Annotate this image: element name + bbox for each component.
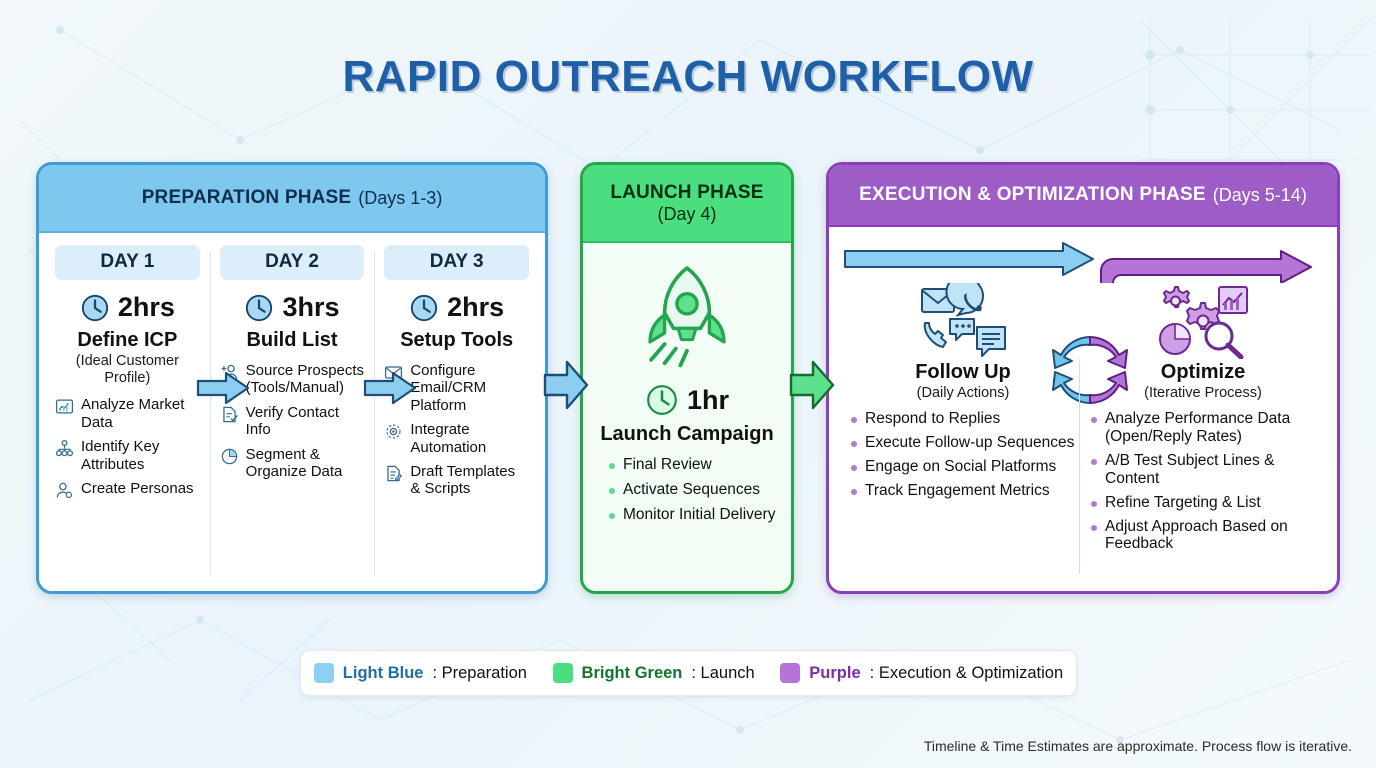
list-item-text: Activate Sequences xyxy=(623,481,760,499)
launch-task-list: Final Review Activate Sequences Monitor … xyxy=(595,456,779,531)
list-item: Analyze Market Data xyxy=(55,396,200,431)
preparation-phase-header: PREPARATION PHASE (Days 1-3) xyxy=(39,165,545,233)
follow-up-task-list: Respond to Replies Execute Follow-up Seq… xyxy=(851,410,1075,500)
list-item: Engage on Social Platforms xyxy=(851,458,1075,476)
optimize-task-list: Analyze Performance Data (Open/Reply Rat… xyxy=(1091,410,1315,554)
day-2-duration-row: 3hrs xyxy=(220,292,365,323)
arrow-preparation-to-launch xyxy=(543,357,589,413)
legend-value: : Execution & Optimization xyxy=(870,664,1064,683)
list-item-text: Verify Contact Info xyxy=(246,404,365,439)
day-3-step-title: Setup Tools xyxy=(384,329,529,352)
day-column-1: DAY 1 2hrs Define ICP (Ideal Customer Pr… xyxy=(45,245,210,583)
follow-up-title: Follow Up xyxy=(851,361,1075,384)
launch-step-title: Launch Campaign xyxy=(600,423,773,446)
clock-icon xyxy=(409,293,439,323)
gear-network-icon xyxy=(384,422,403,441)
list-item-text: Adjust Approach Based on Feedback xyxy=(1105,518,1315,554)
phone-icon xyxy=(925,323,946,347)
list-item-text: Configure Email/CRM Platform xyxy=(410,362,529,414)
list-item: Respond to Replies xyxy=(851,410,1075,428)
day-1-duration: 2hrs xyxy=(118,292,175,323)
day-3-duration: 2hrs xyxy=(447,292,504,323)
list-item: Adjust Approach Based on Feedback xyxy=(1091,518,1315,554)
document-edit-icon xyxy=(384,464,403,483)
day-column-3: DAY 3 2hrs Setup Tools Confi xyxy=(374,245,539,583)
list-item-text: Final Review xyxy=(623,456,712,474)
list-item-text: Analyze Performance Data (Open/Reply Rat… xyxy=(1105,410,1315,446)
day-1-step-sub: (Ideal Customer Profile) xyxy=(55,353,200,386)
execution-flow-arrows xyxy=(843,239,1327,283)
launch-duration: 1hr xyxy=(687,385,729,416)
list-item-text: Refine Targeting & List xyxy=(1105,494,1261,512)
list-item: Execute Follow-up Sequences xyxy=(851,434,1075,452)
launch-header-sub: (Day 4) xyxy=(657,204,716,224)
legend-item-preparation: Light Blue : Preparation xyxy=(314,663,527,683)
list-item-text: Identify Key Attributes xyxy=(81,438,200,473)
legend-value: : Preparation xyxy=(432,664,526,683)
day-3-duration-row: 2hrs xyxy=(384,292,529,323)
launch-duration-row: 1hr xyxy=(645,383,729,417)
arrow-day1-to-day2 xyxy=(196,370,252,406)
execution-phase-header: EXECUTION & OPTIMIZATION PHASE (Days 5-1… xyxy=(829,165,1337,227)
follow-up-icon-cluster xyxy=(917,283,1009,359)
execution-column-optimize: Optimize (Iterative Process) Analyze Per… xyxy=(1083,287,1323,583)
list-item: Verify Contact Info xyxy=(220,404,365,439)
follow-up-sub: (Daily Actions) xyxy=(851,385,1075,402)
list-item: Refine Targeting & List xyxy=(1091,494,1315,512)
day-column-2: DAY 2 3hrs Build List xyxy=(210,245,375,583)
list-item-text: Analyze Market Data xyxy=(81,396,200,431)
legend-key: Light Blue xyxy=(343,664,424,683)
footer-note: Timeline & Time Estimates are approximat… xyxy=(924,738,1352,754)
legend-swatch-green xyxy=(553,663,573,683)
clock-icon xyxy=(80,293,110,323)
launch-phase-header: LAUNCH PHASE (Day 4) xyxy=(583,165,791,243)
list-item: Track Engagement Metrics xyxy=(851,482,1075,500)
list-item: Draft Templates & Scripts xyxy=(384,463,529,498)
legend-swatch-blue xyxy=(314,663,334,683)
org-network-icon xyxy=(55,439,74,458)
clock-icon xyxy=(244,293,274,323)
legend-item-launch: Bright Green : Launch xyxy=(553,663,755,683)
list-item-text: Source Prospects (Tools/Manual) xyxy=(246,362,365,397)
list-item-text: Draft Templates & Scripts xyxy=(410,463,529,498)
execution-header-main: EXECUTION & OPTIMIZATION PHASE xyxy=(859,184,1206,206)
legend-key: Bright Green xyxy=(582,664,683,683)
list-item-text: Monitor Initial Delivery xyxy=(623,506,775,524)
chart-growth-icon xyxy=(55,397,74,416)
preparation-header-main: PREPARATION PHASE xyxy=(142,187,352,209)
day-2-duration: 3hrs xyxy=(282,292,339,323)
list-item-text: A/B Test Subject Lines & Content xyxy=(1105,452,1315,488)
day-2-label: DAY 2 xyxy=(220,245,365,280)
dots-bubble-icon xyxy=(950,319,974,340)
list-item: A/B Test Subject Lines & Content xyxy=(1091,452,1315,488)
list-item: Monitor Initial Delivery xyxy=(609,506,779,524)
list-item: Activate Sequences xyxy=(609,481,779,499)
list-item-text: Execute Follow-up Sequences xyxy=(865,434,1074,452)
legend-key: Purple xyxy=(809,664,860,683)
optimize-sub: (Iterative Process) xyxy=(1091,385,1315,402)
list-item: Segment & Organize Data xyxy=(220,446,365,481)
day-1-step-title: Define ICP xyxy=(55,329,200,352)
execution-header-sub: (Days 5-14) xyxy=(1213,185,1307,206)
execution-phase-panel: EXECUTION & OPTIMIZATION PHASE (Days 5-1… xyxy=(826,162,1340,594)
legend-value: : Launch xyxy=(691,664,754,683)
blue-flow-arrow xyxy=(845,243,1093,275)
list-item: Final Review xyxy=(609,456,779,474)
list-item-text: Integrate Automation xyxy=(410,421,529,456)
document-check-icon xyxy=(220,405,239,424)
execution-column-follow-up: Follow Up (Daily Actions) Respond to Rep… xyxy=(843,287,1083,583)
list-item-text: Segment & Organize Data xyxy=(246,446,365,481)
legend: Light Blue : Preparation Bright Green : … xyxy=(300,650,1077,696)
list-item: Create Personas xyxy=(55,480,200,500)
day-1-task-list: Analyze Market Data Identify Key Attribu… xyxy=(55,396,200,500)
page-title: RAPID OUTREACH WORKFLOW xyxy=(0,52,1376,102)
optimize-title: Optimize xyxy=(1091,361,1315,384)
day-3-label: DAY 3 xyxy=(384,245,529,280)
list-item-text: Respond to Replies xyxy=(865,410,1000,428)
list-item-text: Track Engagement Metrics xyxy=(865,482,1050,500)
purple-flow-arrow xyxy=(1101,251,1311,283)
optimize-icon-cluster xyxy=(1157,283,1249,359)
launch-header-main: LAUNCH PHASE xyxy=(610,182,763,203)
list-item: Identify Key Attributes xyxy=(55,438,200,473)
legend-swatch-purple xyxy=(780,663,800,683)
list-item-text: Engage on Social Platforms xyxy=(865,458,1056,476)
legend-item-execution: Purple : Execution & Optimization xyxy=(780,663,1063,683)
list-item: Analyze Performance Data (Open/Reply Rat… xyxy=(1091,410,1315,446)
preparation-phase-panel: PREPARATION PHASE (Days 1-3) DAY 1 2hrs … xyxy=(36,162,548,594)
message-lines-icon xyxy=(977,327,1005,356)
rocket-icon xyxy=(631,259,743,371)
launch-phase-panel: LAUNCH PHASE (Day 4) 1hr Launch Campaign xyxy=(580,162,794,594)
clock-icon xyxy=(645,383,679,417)
arrow-launch-to-execution xyxy=(789,357,835,413)
list-item-text: Create Personas xyxy=(81,480,194,497)
arrow-day2-to-day3 xyxy=(363,370,419,406)
day-1-duration-row: 2hrs xyxy=(55,292,200,323)
preparation-header-sub: (Days 1-3) xyxy=(358,188,442,209)
day-1-label: DAY 1 xyxy=(55,245,200,280)
list-item: Integrate Automation xyxy=(384,421,529,456)
day-2-step-title: Build List xyxy=(220,329,365,352)
user-persona-icon xyxy=(55,481,74,500)
pie-chart-icon xyxy=(220,447,239,466)
